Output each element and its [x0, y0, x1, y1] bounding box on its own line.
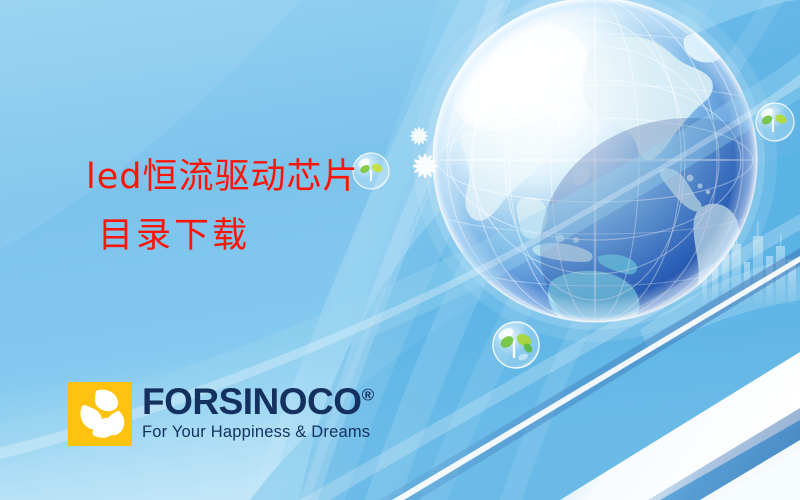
registered-trademark-symbol: ® — [362, 386, 375, 405]
bubble-sprout-right — [756, 103, 794, 141]
logo-text-block: FORSINOCO® For Your Happiness & Dreams — [142, 382, 374, 442]
bubble-sprout-center — [493, 322, 539, 368]
forsinoco-pinwheel-mark — [68, 382, 132, 446]
brand-logo[interactable]: FORSINOCO® For Your Happiness & Dreams — [68, 382, 374, 446]
bubble-sprout-left — [353, 153, 389, 189]
logo-wordmark: FORSINOCO® — [142, 383, 374, 420]
promo-banner: led恒流驱动芯片 目录下载 FORSINOCO® For Your Happi… — [0, 0, 800, 500]
logo-wordmark-text: FORSINOCO — [142, 381, 362, 422]
logo-tagline: For Your Happiness & Dreams — [142, 423, 374, 442]
